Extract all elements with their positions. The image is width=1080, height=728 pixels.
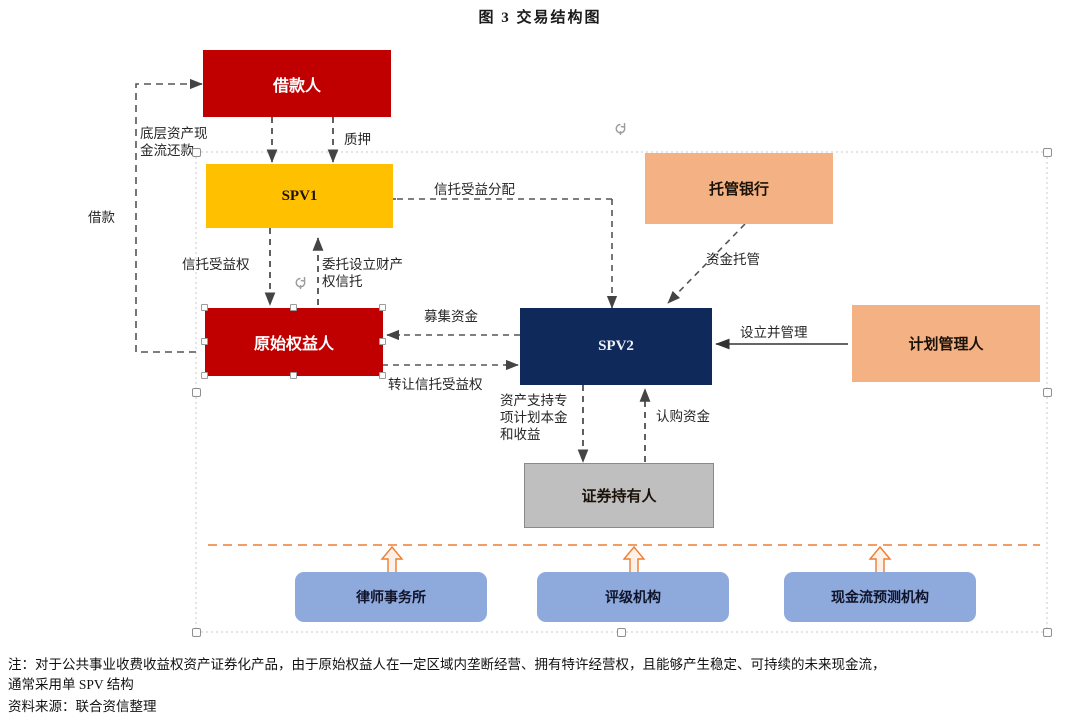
node-custodian-bank-label: 托管银行 [709,178,769,199]
rotation-handle-originator[interactable] [293,276,308,291]
node-spv2[interactable]: SPV2 [520,308,712,385]
edge-label-trust-beneficiary-right: 信托受益权 [182,256,250,273]
source-line: 资料来源：联合资信整理 [8,697,157,716]
edge-label-entrust-property-trust: 委托设立财产 权信托 [322,256,446,290]
edge-label-pledge: 质押 [344,131,371,148]
node-rating-agency-label: 评级机构 [605,587,661,607]
node-borrower-label: 借款人 [273,72,321,96]
edge-trust-benefit-distribution [388,199,612,308]
edge-label-raise-funds: 募集资金 [424,308,478,325]
node-originator-label: 原始权益人 [254,330,334,354]
selection-handle-br[interactable] [379,372,386,379]
selection-handle-ml[interactable] [201,338,208,345]
edge-label-transfer-trust-right: 转让信托受益权 [388,376,483,393]
edge-label-subscription-funds: 认购资金 [656,408,710,425]
node-security-holder[interactable]: 证券持有人 [524,463,714,528]
node-custodian-bank[interactable]: 托管银行 [645,153,833,224]
group-handle-tl[interactable] [192,148,201,157]
service-arrow-rating [624,547,644,573]
node-borrower[interactable]: 借款人 [203,50,391,117]
node-originator[interactable]: 原始权益人 [205,308,383,376]
group-handle-bc[interactable] [617,628,626,637]
group-handle-ml[interactable] [192,388,201,397]
group-handle-br[interactable] [1043,628,1052,637]
node-plan-manager-label: 计划管理人 [908,333,983,354]
node-plan-manager[interactable]: 计划管理人 [852,305,1040,382]
footnote-line-2: 通常采用单 SPV 结构 [8,675,134,694]
footnote-line-1: 注：对于公共事业收费收益权资产证券化产品，由于原始权益人在一定区域内垄断经营、拥… [8,655,886,674]
edge-label-loan: 借款 [88,209,115,226]
service-arrow-law [382,547,402,573]
rotation-handle-group[interactable] [613,122,628,137]
selection-handle-tr[interactable] [379,304,386,311]
group-handle-tr[interactable] [1043,148,1052,157]
group-handle-mr[interactable] [1043,388,1052,397]
node-cashflow-agency[interactable]: 现金流预测机构 [784,572,976,622]
node-spv1-label: SPV1 [282,188,318,205]
service-arrow-cashflow [870,547,890,573]
selection-handle-tc[interactable] [290,304,297,311]
diagram-canvas: 图 3 交易结构图 [0,0,1080,728]
node-cashflow-agency-label: 现金流预测机构 [831,587,929,607]
node-spv2-label: SPV2 [598,338,634,355]
node-law-firm[interactable]: 律师事务所 [295,572,487,622]
selection-handle-tl[interactable] [201,304,208,311]
selection-handle-bc[interactable] [290,372,297,379]
node-spv1[interactable]: SPV1 [206,164,393,228]
edge-label-abs-principal-income: 资产支持专 项计划本金 和收益 [500,392,592,443]
edge-label-fund-custody: 资金托管 [706,251,760,268]
node-security-holder-label: 证券持有人 [581,485,656,506]
group-handle-bl[interactable] [192,628,201,637]
edge-label-trust-benefit-distribution: 信托受益分配 [434,181,515,198]
edge-label-establish-manage: 设立并管理 [740,324,808,341]
selection-handle-mr[interactable] [379,338,386,345]
selection-handle-bl[interactable] [201,372,208,379]
node-law-firm-label: 律师事务所 [356,587,426,607]
node-rating-agency[interactable]: 评级机构 [537,572,729,622]
